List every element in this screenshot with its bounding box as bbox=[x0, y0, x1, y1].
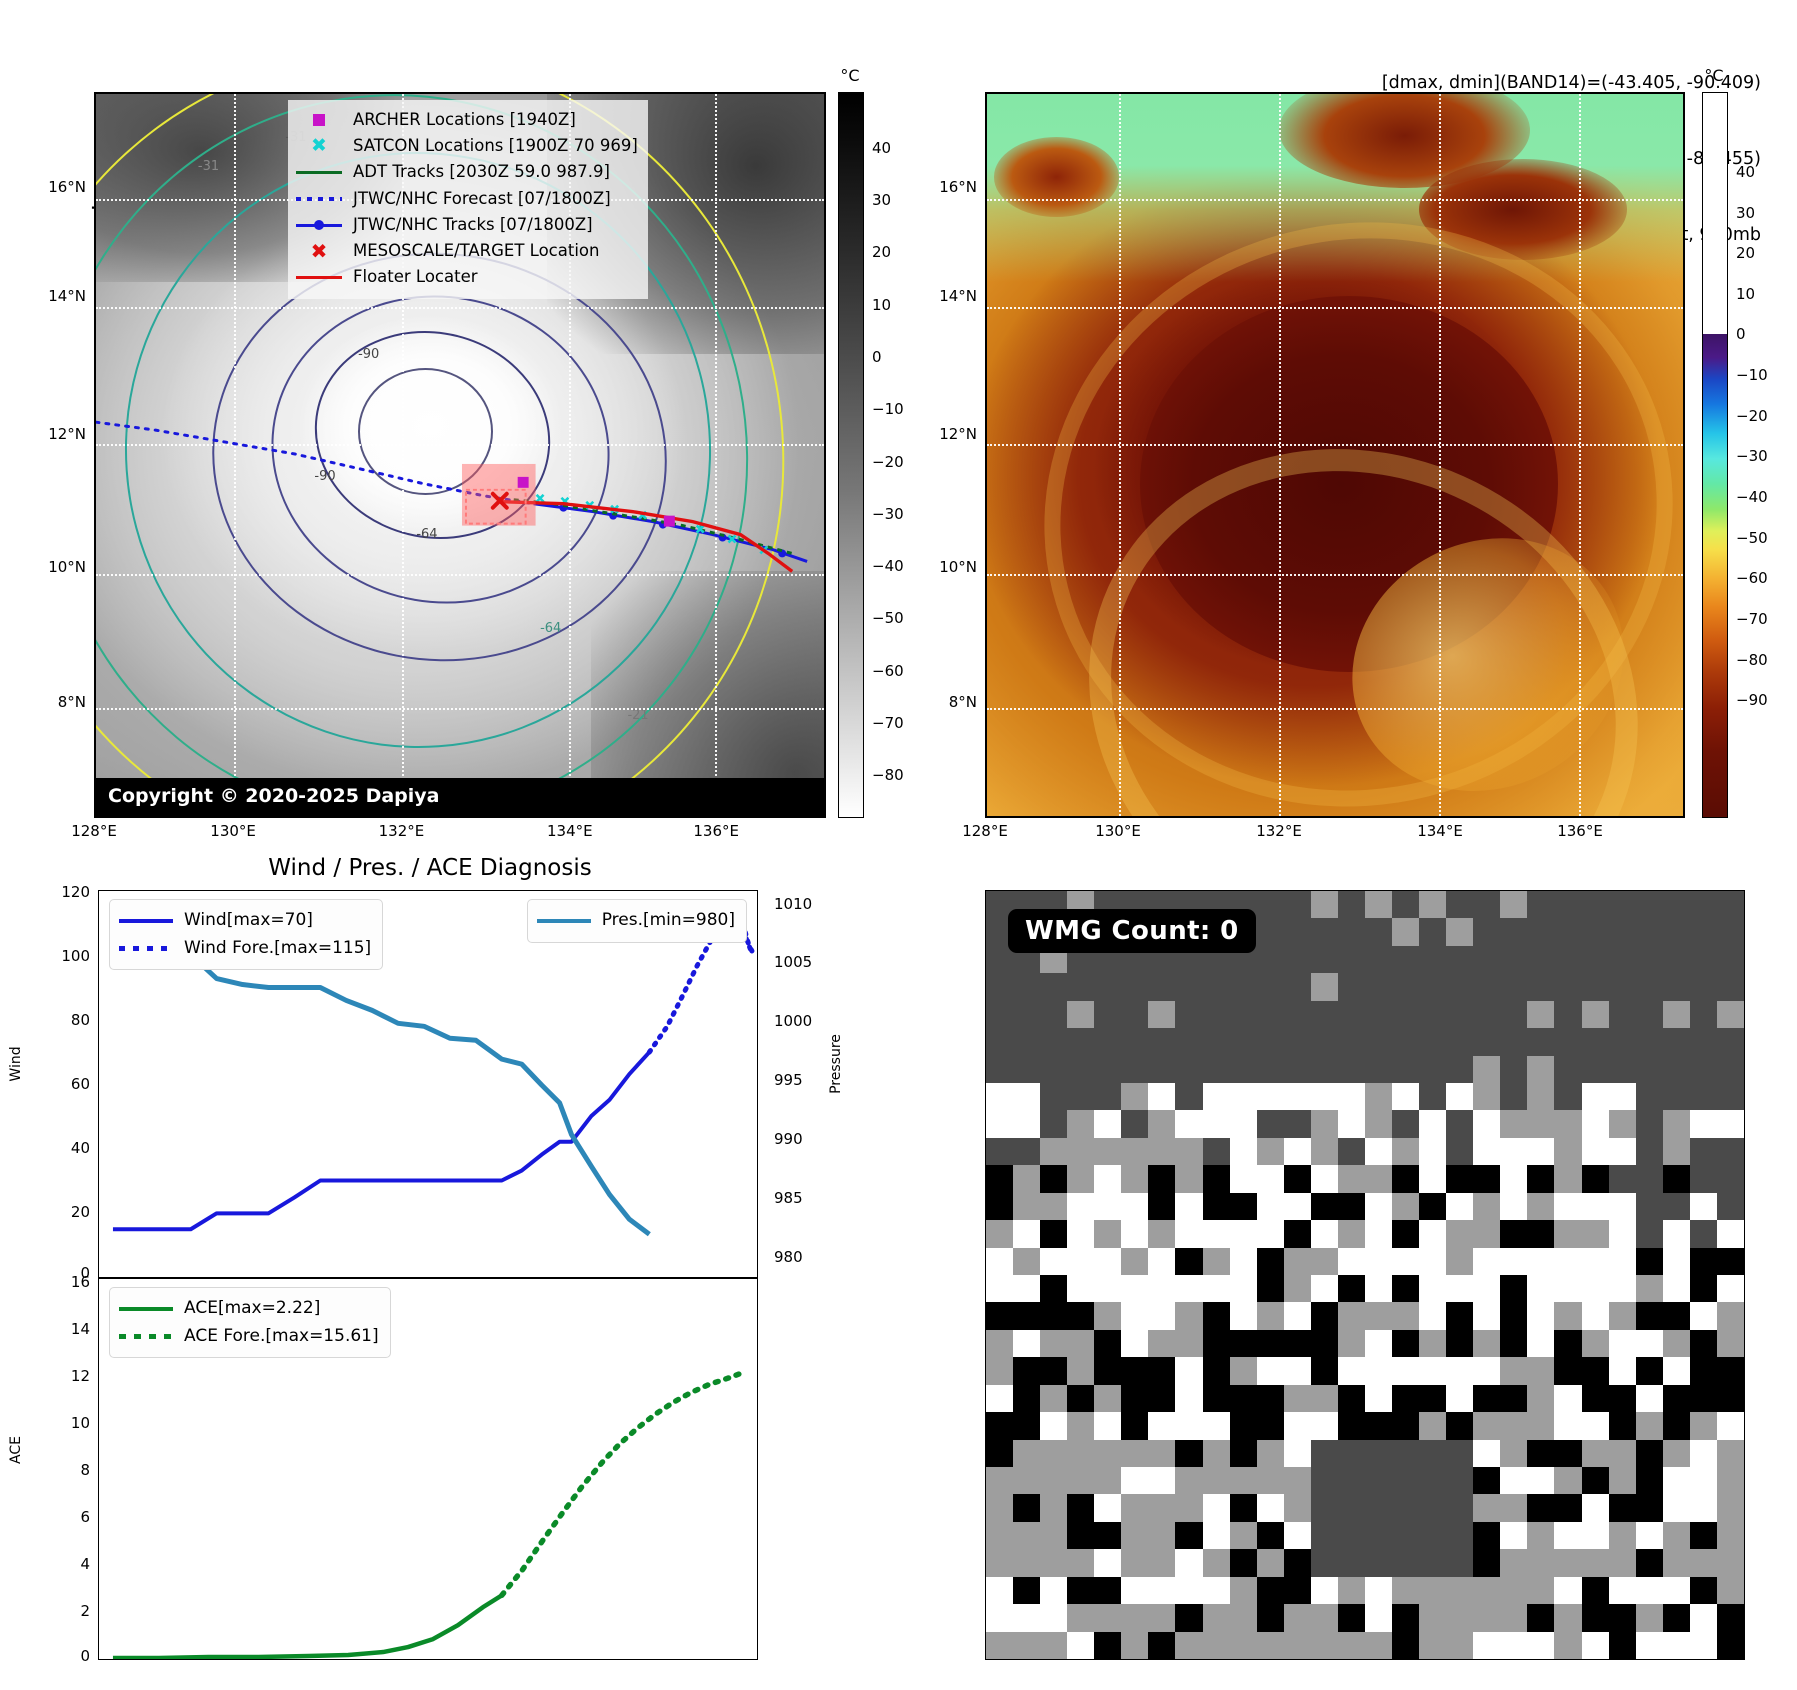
legend-item-jtwc-forecast: JTWC/NHC Forecast [07/1800Z] bbox=[296, 186, 638, 212]
awv-cbtick-m70: −70 bbox=[1736, 610, 1768, 628]
mosaic-cell bbox=[1311, 1467, 1338, 1494]
awv-cbtick-10: 10 bbox=[1736, 285, 1755, 303]
legend-label-ace-forecast: ACE Fore.[max=15.61] bbox=[184, 1323, 379, 1351]
mosaic-cell bbox=[1257, 1467, 1284, 1494]
ace-ytick-12: 12 bbox=[71, 1367, 90, 1385]
awv-ytick-10n: 10°N bbox=[939, 558, 977, 576]
mosaic-cell bbox=[1284, 1494, 1311, 1521]
ir-x-axis: 128°E 130°E 132°E 134°E 136°E bbox=[94, 822, 826, 852]
mosaic-cell bbox=[1663, 1412, 1690, 1439]
mosaic-cell bbox=[1040, 1385, 1067, 1412]
mosaic-cell bbox=[1013, 1110, 1040, 1137]
mosaic-cell bbox=[1527, 1001, 1554, 1028]
ir-cbtick-m50: −50 bbox=[872, 609, 904, 627]
mosaic-cell bbox=[1284, 1604, 1311, 1631]
mosaic-cell bbox=[1230, 1522, 1257, 1549]
mosaic-cell bbox=[1365, 1632, 1392, 1659]
diagnosis-panel-title: Wind / Pres. / ACE Diagnosis bbox=[100, 855, 760, 881]
mosaic-cell bbox=[1284, 1110, 1311, 1137]
mosaic-cell bbox=[1094, 1083, 1121, 1110]
mosaic-cell bbox=[1554, 946, 1581, 973]
mosaic-cell bbox=[1067, 1302, 1094, 1329]
mosaic-cell bbox=[1473, 1357, 1500, 1384]
mosaic-cell bbox=[1500, 891, 1527, 918]
mosaic-cell bbox=[1067, 1494, 1094, 1521]
satcon-marker-icon: ✖ bbox=[296, 139, 342, 154]
mosaic-cell bbox=[1148, 1001, 1175, 1028]
mosaic-cell bbox=[1365, 1302, 1392, 1329]
mosaic-cell bbox=[1094, 1110, 1121, 1137]
awv-cbtick-m50: −50 bbox=[1736, 529, 1768, 547]
awv-satellite-image[interactable] bbox=[985, 92, 1685, 818]
mosaic-cell bbox=[986, 1330, 1013, 1357]
mosaic-cell bbox=[1040, 1604, 1067, 1631]
mosaic-cell bbox=[1636, 891, 1663, 918]
mosaic-cell bbox=[1284, 1275, 1311, 1302]
mosaic-cell bbox=[1094, 1165, 1121, 1192]
mosaic-cell bbox=[1609, 891, 1636, 918]
mosaic-cell bbox=[1121, 1467, 1148, 1494]
mosaic-cell bbox=[1284, 946, 1311, 973]
mosaic-cell bbox=[986, 1165, 1013, 1192]
mosaic-cell bbox=[1392, 1440, 1419, 1467]
mosaic-cell bbox=[1419, 1056, 1446, 1083]
mosaic-cell bbox=[1392, 1083, 1419, 1110]
mosaic-cell bbox=[1527, 973, 1554, 1000]
mosaic-cell bbox=[1500, 1412, 1527, 1439]
mosaic-cell bbox=[1203, 1467, 1230, 1494]
mosaic-cell bbox=[1040, 1028, 1067, 1055]
mosaic-cell bbox=[1094, 1220, 1121, 1247]
mosaic-cell bbox=[1663, 1138, 1690, 1165]
mosaic-cell bbox=[1527, 1110, 1554, 1137]
mosaic-cell bbox=[1311, 1494, 1338, 1521]
mosaic-cell bbox=[1419, 918, 1446, 945]
wmg-count-badge: WMG Count: 0 bbox=[1008, 909, 1256, 953]
mosaic-cell bbox=[1527, 1193, 1554, 1220]
mosaic-cell bbox=[1609, 1632, 1636, 1659]
mosaic-cell bbox=[1230, 1385, 1257, 1412]
mosaic-cell bbox=[1419, 1083, 1446, 1110]
mosaic-cell bbox=[1392, 1467, 1419, 1494]
copyright-text: Copyright © 2020-2025 Dapiya bbox=[108, 785, 439, 807]
mosaic-cell bbox=[1500, 1440, 1527, 1467]
mosaic-cell bbox=[1257, 1522, 1284, 1549]
mosaic-cell bbox=[1338, 1248, 1365, 1275]
mosaic-cell bbox=[1203, 1577, 1230, 1604]
mosaic-cell bbox=[1040, 1522, 1067, 1549]
mosaic-cell bbox=[1636, 1248, 1663, 1275]
mosaic-cell bbox=[1175, 1248, 1202, 1275]
mosaic-cell bbox=[1663, 1056, 1690, 1083]
pressure-ytick-985: 985 bbox=[774, 1189, 803, 1207]
mosaic-cell bbox=[1582, 1549, 1609, 1576]
mosaic-cell bbox=[1365, 891, 1392, 918]
mosaic-cell bbox=[1500, 1632, 1527, 1659]
mosaic-cell bbox=[1582, 1165, 1609, 1192]
mosaic-cell bbox=[986, 1604, 1013, 1631]
mosaic-cell bbox=[1121, 1083, 1148, 1110]
mosaic-cell bbox=[1636, 1056, 1663, 1083]
mosaic-cell bbox=[1203, 1549, 1230, 1576]
mosaic-cell bbox=[1094, 1330, 1121, 1357]
mosaic-cell bbox=[1690, 1001, 1717, 1028]
mosaic-cell bbox=[1419, 1604, 1446, 1631]
awv-cbtick-m90: −90 bbox=[1736, 691, 1768, 709]
mosaic-cell bbox=[1446, 1165, 1473, 1192]
mosaic-cell bbox=[1609, 1275, 1636, 1302]
mosaic-cell bbox=[1067, 1165, 1094, 1192]
mosaic-cell bbox=[1284, 1165, 1311, 1192]
mosaic-cell bbox=[1148, 1138, 1175, 1165]
mosaic-cell bbox=[1554, 1412, 1581, 1439]
mosaic-cell bbox=[1284, 1083, 1311, 1110]
mosaic-cell bbox=[1121, 1385, 1148, 1412]
mosaic-cell bbox=[1040, 1330, 1067, 1357]
mosaic-cell bbox=[1582, 1110, 1609, 1137]
mosaic-cell bbox=[1419, 1110, 1446, 1137]
mosaic-cell bbox=[1013, 1248, 1040, 1275]
mosaic-cell bbox=[1419, 946, 1446, 973]
mosaic-cell bbox=[1040, 1275, 1067, 1302]
ace-ytick-10: 10 bbox=[71, 1414, 90, 1432]
ace-axis-label: ACE bbox=[8, 1436, 24, 1464]
pressure-ytick-1010: 1010 bbox=[774, 895, 812, 913]
mosaic-cell bbox=[986, 1302, 1013, 1329]
mosaic-cell bbox=[1527, 1330, 1554, 1357]
mosaic-cell bbox=[1013, 1138, 1040, 1165]
mosaic-cell bbox=[1582, 973, 1609, 1000]
awv-ytick-8n: 8°N bbox=[949, 693, 977, 711]
mosaic-cell bbox=[1636, 1549, 1663, 1576]
ir-cbtick-m40: −40 bbox=[872, 557, 904, 575]
mosaic-cell bbox=[1257, 1385, 1284, 1412]
mosaic-cell bbox=[1663, 891, 1690, 918]
floater-line-icon bbox=[296, 270, 342, 285]
mosaic-cell bbox=[1040, 1138, 1067, 1165]
awv-cbtick-m20: −20 bbox=[1736, 407, 1768, 425]
mosaic-cell bbox=[1419, 891, 1446, 918]
mosaic-cell bbox=[1338, 1275, 1365, 1302]
mosaic-cell bbox=[1067, 1412, 1094, 1439]
mosaic-cell bbox=[1500, 918, 1527, 945]
legend-item-jtwc-tracks: JTWC/NHC Tracks [07/1800Z] bbox=[296, 212, 638, 238]
mosaic-cell bbox=[1392, 1138, 1419, 1165]
mosaic-cell bbox=[1311, 1440, 1338, 1467]
mosaic-cell bbox=[1419, 1522, 1446, 1549]
wind-y-axis: 120 100 80 60 40 20 0 bbox=[28, 890, 96, 1278]
mosaic-cell bbox=[1527, 1275, 1554, 1302]
mosaic-cell bbox=[1257, 1549, 1284, 1576]
mosaic-cell bbox=[1663, 1302, 1690, 1329]
mosaic-cell bbox=[1121, 1110, 1148, 1137]
mosaic-cell bbox=[1338, 1412, 1365, 1439]
mosaic-cell bbox=[1554, 1440, 1581, 1467]
mosaic-cell bbox=[1446, 1522, 1473, 1549]
mosaic-cell bbox=[1717, 1193, 1744, 1220]
mosaic-cell bbox=[1284, 891, 1311, 918]
mosaic-cell bbox=[1257, 973, 1284, 1000]
mosaic-cell bbox=[1230, 973, 1257, 1000]
mosaic-cell bbox=[1257, 1604, 1284, 1631]
mosaic-cell bbox=[1392, 1248, 1419, 1275]
mosaic-cell bbox=[1311, 946, 1338, 973]
legend-item-wind: Wind[max=70] bbox=[119, 907, 371, 935]
mosaic-cell bbox=[1284, 1028, 1311, 1055]
mosaic-cell bbox=[1284, 1248, 1311, 1275]
ace-forecast-line bbox=[502, 1373, 743, 1596]
mosaic-cell bbox=[1690, 1220, 1717, 1247]
mosaic-cell bbox=[1040, 1302, 1067, 1329]
mosaic-cell bbox=[1663, 1083, 1690, 1110]
mosaic-cell bbox=[1040, 1165, 1067, 1192]
mosaic-cell bbox=[1284, 1549, 1311, 1576]
mosaic-cell bbox=[1203, 1083, 1230, 1110]
mosaic-cell bbox=[1717, 946, 1744, 973]
mosaic-cell bbox=[1013, 1275, 1040, 1302]
mosaic-cell bbox=[1582, 1193, 1609, 1220]
mosaic-cell bbox=[1690, 1083, 1717, 1110]
mosaic-cell bbox=[1636, 1494, 1663, 1521]
mosaic-cell bbox=[1554, 1001, 1581, 1028]
mosaic-cell bbox=[1663, 1577, 1690, 1604]
mosaic-cell bbox=[1446, 891, 1473, 918]
mosaic-cell bbox=[1067, 1193, 1094, 1220]
awv-colorbar-ticks: 40 30 20 10 0 −10 −20 −30 −40 −50 −60 −7… bbox=[1732, 92, 1794, 818]
mosaic-cell bbox=[1690, 1275, 1717, 1302]
mosaic-cell bbox=[1067, 1522, 1094, 1549]
mosaic-cell bbox=[1257, 1494, 1284, 1521]
mosaic-cell bbox=[1121, 1275, 1148, 1302]
mosaic-cell bbox=[1609, 1056, 1636, 1083]
mosaic-cell bbox=[1419, 1549, 1446, 1576]
mosaic-cell bbox=[1690, 1604, 1717, 1631]
mosaic-cell bbox=[1554, 891, 1581, 918]
mosaic-cell bbox=[1067, 1549, 1094, 1576]
mosaic-cell bbox=[1690, 1165, 1717, 1192]
legend-label-ace: ACE[max=2.22] bbox=[184, 1295, 320, 1323]
ace-legend: ACE[max=2.22] ACE Fore.[max=15.61] bbox=[109, 1287, 391, 1358]
ir-satellite-image[interactable]: -31 -90 -64 -90 -21 -64 -31 bbox=[94, 92, 826, 818]
pressure-line-icon bbox=[537, 913, 591, 928]
mosaic-cell bbox=[1067, 1028, 1094, 1055]
mosaic-cell bbox=[1311, 1138, 1338, 1165]
mosaic-cell bbox=[1257, 1248, 1284, 1275]
mosaic-cell bbox=[1257, 1028, 1284, 1055]
mosaic-cell bbox=[1175, 1632, 1202, 1659]
pressure-ytick-980: 980 bbox=[774, 1248, 803, 1266]
mosaic-cell bbox=[1663, 1220, 1690, 1247]
mosaic-cell bbox=[986, 1110, 1013, 1137]
mosaic-cell bbox=[1500, 1604, 1527, 1631]
mosaic-cell bbox=[1500, 1302, 1527, 1329]
mosaic-cell bbox=[1203, 1138, 1230, 1165]
mosaic-cell bbox=[1230, 1330, 1257, 1357]
mosaic-cell bbox=[986, 1385, 1013, 1412]
mosaic-cell bbox=[1554, 1549, 1581, 1576]
mosaic-cell bbox=[1148, 1549, 1175, 1576]
ace-plot[interactable]: ACE[max=2.22] ACE Fore.[max=15.61] bbox=[98, 1278, 758, 1660]
awv-colorbar-title: °C bbox=[1692, 66, 1736, 85]
awv-gridline-lon-130e bbox=[1119, 94, 1121, 816]
mosaic-cell bbox=[1636, 1440, 1663, 1467]
awv-gridline-lon-136e bbox=[1579, 94, 1581, 816]
mosaic-cell bbox=[1365, 1412, 1392, 1439]
mosaic-cell bbox=[1148, 1056, 1175, 1083]
legend-item-ace-forecast: ACE Fore.[max=15.61] bbox=[119, 1323, 379, 1351]
mosaic-cell bbox=[1473, 1385, 1500, 1412]
awv-colorbar bbox=[1702, 92, 1728, 818]
mosaic-cell bbox=[1446, 1604, 1473, 1631]
mosaic-cell bbox=[1067, 1604, 1094, 1631]
mosaic-cell bbox=[1013, 1001, 1040, 1028]
mosaic-cell bbox=[1175, 1028, 1202, 1055]
mosaic-cell bbox=[1419, 1577, 1446, 1604]
legend-item-floater: Floater Locater bbox=[296, 264, 638, 290]
mosaic-cell bbox=[1175, 1357, 1202, 1384]
mosaic-cell bbox=[1284, 1522, 1311, 1549]
mosaic-cell bbox=[1690, 1302, 1717, 1329]
mosaic-cell bbox=[1175, 1440, 1202, 1467]
mosaic-cell bbox=[1392, 1302, 1419, 1329]
mosaic-cell bbox=[1013, 1522, 1040, 1549]
mosaic-cell bbox=[1121, 1028, 1148, 1055]
mosaic-cell bbox=[1203, 1001, 1230, 1028]
mosaic-cell bbox=[1527, 1056, 1554, 1083]
mosaic-cell bbox=[1392, 1001, 1419, 1028]
mosaic-cell bbox=[1663, 1028, 1690, 1055]
mosaic-cell bbox=[1636, 1110, 1663, 1137]
mosaic-cell bbox=[1338, 1302, 1365, 1329]
mosaic-cell bbox=[1338, 1083, 1365, 1110]
mosaic-cell bbox=[1230, 1001, 1257, 1028]
mosaic-cell bbox=[1365, 1220, 1392, 1247]
ir-ytick-12n: 12°N bbox=[48, 425, 86, 443]
ir-cbtick-30: 30 bbox=[872, 191, 891, 209]
archer-marker-icon bbox=[296, 113, 342, 128]
mosaic-cell bbox=[1392, 1604, 1419, 1631]
mosaic-cell bbox=[1257, 918, 1284, 945]
mosaic-cell bbox=[1230, 1193, 1257, 1220]
mosaic-cell bbox=[1419, 1412, 1446, 1439]
mosaic-cell bbox=[1230, 1632, 1257, 1659]
mosaic-cell bbox=[1473, 1001, 1500, 1028]
mosaic-cell bbox=[1473, 1632, 1500, 1659]
mosaic-cell bbox=[1365, 1522, 1392, 1549]
mosaic-cell bbox=[1419, 1330, 1446, 1357]
ir-cbtick-10: 10 bbox=[872, 296, 891, 314]
ir-cbtick-40: 40 bbox=[872, 139, 891, 157]
wmg-mosaic-panel[interactable]: WMG Count: 0 bbox=[985, 890, 1745, 1660]
mosaic-cell bbox=[1121, 1604, 1148, 1631]
mosaic-cell bbox=[1690, 1440, 1717, 1467]
legend-item-satcon: ✖ SATCON Locations [1900Z 70 969] bbox=[296, 133, 638, 159]
mosaic-cell bbox=[1392, 1330, 1419, 1357]
mosaic-cell bbox=[1554, 1110, 1581, 1137]
mosaic-cell bbox=[1175, 1604, 1202, 1631]
mosaic-cell bbox=[1609, 1083, 1636, 1110]
wind-pressure-plot[interactable]: Wind[max=70] Wind Fore.[max=115] Pres.[m… bbox=[98, 890, 758, 1278]
mosaic-cell bbox=[1609, 1193, 1636, 1220]
mosaic-cell bbox=[1690, 973, 1717, 1000]
mosaic-cell bbox=[1148, 1083, 1175, 1110]
mosaic-cell bbox=[1257, 1110, 1284, 1137]
mosaic-cell bbox=[1392, 1220, 1419, 1247]
mosaic-cell bbox=[1148, 1357, 1175, 1384]
mosaic-cell bbox=[1419, 1275, 1446, 1302]
wind-ytick-40: 40 bbox=[71, 1139, 90, 1157]
ir-xtick-128e: 128°E bbox=[71, 822, 117, 840]
mosaic-cell bbox=[1717, 1549, 1744, 1576]
mosaic-cell bbox=[1663, 1330, 1690, 1357]
awv-xtick-136e: 136°E bbox=[1557, 822, 1603, 840]
mosaic-cell bbox=[1473, 1302, 1500, 1329]
mosaic-cell bbox=[1582, 1494, 1609, 1521]
mosaic-cell bbox=[1636, 1467, 1663, 1494]
mosaic-cell bbox=[1013, 1357, 1040, 1384]
mosaic-cell bbox=[1690, 1632, 1717, 1659]
mosaic-cell bbox=[1257, 1083, 1284, 1110]
jtwc-track-line-icon bbox=[296, 218, 342, 233]
mosaic-cell bbox=[1338, 1577, 1365, 1604]
mosaic-cell bbox=[1690, 1330, 1717, 1357]
mosaic-cell bbox=[1527, 946, 1554, 973]
mosaic-cell bbox=[1419, 1440, 1446, 1467]
mosaic-cell bbox=[1067, 1440, 1094, 1467]
mosaic-cell bbox=[1419, 1193, 1446, 1220]
mosaic-cell bbox=[1554, 1357, 1581, 1384]
mosaic-cell bbox=[1527, 1522, 1554, 1549]
mosaic-cell bbox=[1419, 1165, 1446, 1192]
mosaic-cell bbox=[1663, 1385, 1690, 1412]
mosaic-cell bbox=[1365, 1248, 1392, 1275]
mosaic-cell bbox=[1094, 1577, 1121, 1604]
wind-forecast-line-icon bbox=[119, 941, 173, 956]
mosaic-cell bbox=[1365, 1604, 1392, 1631]
mosaic-cell bbox=[1582, 1001, 1609, 1028]
mosaic-cell bbox=[1500, 1083, 1527, 1110]
mosaic-cell bbox=[1257, 1193, 1284, 1220]
mosaic-cell bbox=[1094, 973, 1121, 1000]
mosaic-cell bbox=[1148, 1302, 1175, 1329]
mosaic-cell bbox=[1175, 1165, 1202, 1192]
mosaic-cell bbox=[1609, 1248, 1636, 1275]
mosaic-cell bbox=[1067, 1357, 1094, 1384]
mosaic-cell bbox=[1094, 1412, 1121, 1439]
mosaic-cell bbox=[1663, 1522, 1690, 1549]
mosaic-cell bbox=[1094, 1385, 1121, 1412]
mosaic-cell bbox=[1365, 946, 1392, 973]
mosaic-cell bbox=[1717, 1001, 1744, 1028]
mosaic-cell bbox=[1094, 1056, 1121, 1083]
mosaic-cell bbox=[1203, 1632, 1230, 1659]
mosaic-cell bbox=[1554, 1165, 1581, 1192]
wind-ytick-80: 80 bbox=[71, 1011, 90, 1029]
mosaic-cell bbox=[1013, 1440, 1040, 1467]
mosaic-cell bbox=[1121, 973, 1148, 1000]
mosaic-cell bbox=[1554, 918, 1581, 945]
mosaic-cell bbox=[1148, 1193, 1175, 1220]
mosaic-cell bbox=[1527, 918, 1554, 945]
mosaic-cell bbox=[1175, 1385, 1202, 1412]
awv-cbtick-m60: −60 bbox=[1736, 569, 1768, 587]
mosaic-cell bbox=[1094, 1632, 1121, 1659]
ace-forecast-line-icon bbox=[119, 1329, 173, 1344]
wind-legend: Wind[max=70] Wind Fore.[max=115] bbox=[109, 899, 383, 970]
mosaic-cell bbox=[1148, 1110, 1175, 1137]
awv-cbtick-m30: −30 bbox=[1736, 447, 1768, 465]
mosaic-cell bbox=[1311, 1330, 1338, 1357]
